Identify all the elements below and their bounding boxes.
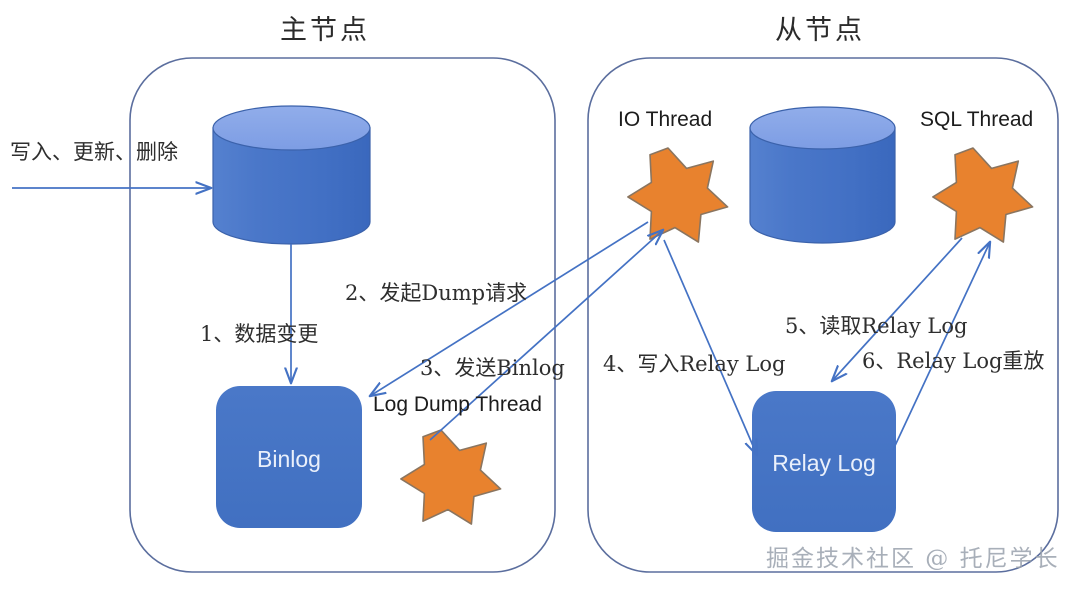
io-thread-label: IO Thread: [618, 108, 712, 132]
sql-thread-star-icon: [933, 148, 1033, 242]
step1-label: 1、数据变更: [200, 318, 318, 348]
write-update-delete-label: 写入、更新、删除: [10, 136, 178, 166]
relay-log-box[interactable]: [752, 391, 896, 532]
binlog-box[interactable]: [216, 386, 362, 528]
master-database-cylinder-icon: [213, 106, 370, 244]
io-thread-star-icon: [628, 148, 728, 242]
log-dump-thread-label: Log Dump Thread: [373, 393, 542, 417]
step4-label: 4、写入Relay Log: [603, 348, 785, 378]
slave-database-cylinder-icon: [750, 107, 895, 243]
log-dump-thread-star-icon: [401, 430, 501, 524]
sql-thread-label: SQL Thread: [920, 108, 1033, 132]
diagram-canvas: 主节点 从节点 写入、更新、删除 1、数据变更 2、发起Dump请求 3、发送B…: [0, 0, 1080, 589]
slave-node-title: 从节点: [775, 8, 865, 47]
watermark-text: 掘金技术社区 @ 托尼学长: [766, 539, 1060, 573]
step6-label: 6、Relay Log重放: [862, 345, 1044, 375]
master-node-title: 主节点: [280, 8, 370, 47]
step5-label: 5、读取Relay Log: [785, 310, 967, 340]
diagram-graphics: [0, 0, 1080, 589]
step3-label: 3、发送Binlog: [420, 352, 565, 382]
step2-label: 2、发起Dump请求: [345, 277, 527, 307]
